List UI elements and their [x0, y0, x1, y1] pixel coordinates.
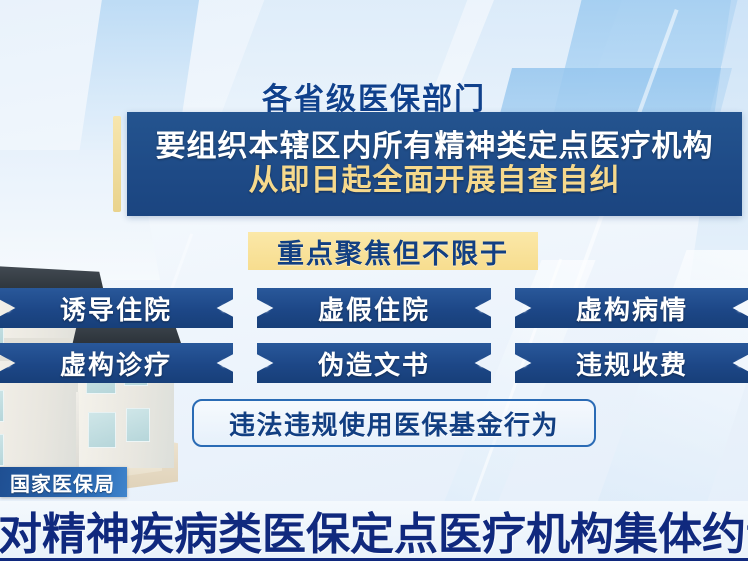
- chip-dot-right-icon: [479, 305, 486, 312]
- chip-dot-right-icon: [737, 305, 744, 312]
- violation-chip[interactable]: 虚构病情: [515, 288, 748, 328]
- violation-chip-label: 伪造文书: [318, 345, 430, 382]
- conclusion-label: 违法违规使用医保基金行为: [229, 405, 559, 442]
- headline-bar: 对精神疾病类医保定点医疗机构集体约谈: [0, 501, 748, 559]
- violation-chip-label: 虚构病情: [576, 290, 688, 327]
- directive-panel: 要组织本辖区内所有精神类定点医疗机构 从即日起全面开展自查自纠: [113, 112, 742, 216]
- violation-chip[interactable]: 虚构诊疗: [0, 343, 233, 383]
- building-window: [126, 408, 150, 442]
- source-badge: 国家医保局: [0, 467, 127, 497]
- lower-third: 国家医保局 对精神疾病类医保定点医疗机构集体约谈: [0, 459, 748, 561]
- focus-band-label: 重点聚焦但不限于: [277, 232, 509, 271]
- conclusion-box: 违法违规使用医保基金行为: [192, 399, 596, 447]
- chip-dot-left-icon: [520, 360, 527, 367]
- violation-chip[interactable]: 诱导住院: [0, 288, 233, 328]
- source-badge-label: 国家医保局: [10, 468, 115, 497]
- violation-chip[interactable]: 伪造文书: [257, 343, 491, 383]
- violation-chip-label: 虚假住院: [318, 290, 430, 327]
- chip-dot-right-icon: [737, 360, 744, 367]
- chip-dot-right-icon: [221, 360, 228, 367]
- panel-accent-bar: [113, 116, 121, 212]
- violation-chip[interactable]: 虚假住院: [257, 288, 491, 328]
- chip-dot-left-icon: [4, 305, 11, 312]
- chip-dot-left-icon: [4, 360, 11, 367]
- violation-chip-label: 虚构诊疗: [60, 345, 172, 382]
- violation-chip-label: 诱导住院: [60, 290, 172, 327]
- directive-panel-body: 要组织本辖区内所有精神类定点医疗机构 从即日起全面开展自查自纠: [127, 112, 742, 216]
- chip-dot-right-icon: [479, 360, 486, 367]
- chip-dot-left-icon: [262, 360, 269, 367]
- directive-line-2: 从即日起全面开展自查自纠: [249, 164, 621, 198]
- chip-dot-left-icon: [520, 305, 527, 312]
- broadcast-graphic-frame: 各省级医保部门 要组织本辖区内所有精神类定点医疗机构 从即日起全面开展自查自纠 …: [0, 0, 748, 561]
- building-window: [0, 390, 4, 422]
- violation-chip-label: 违规收费: [576, 345, 688, 382]
- violation-chip[interactable]: 违规收费: [515, 343, 748, 383]
- headline-text: 对精神疾病类医保定点医疗机构集体约谈: [0, 501, 748, 559]
- violation-chip-row-2: 虚构诊疗 伪造文书 违规收费: [0, 343, 748, 383]
- building-window: [88, 412, 116, 448]
- directive-line-1: 要组织本辖区内所有精神类定点医疗机构: [156, 130, 714, 164]
- focus-band: 重点聚焦但不限于: [248, 232, 538, 270]
- chip-dot-right-icon: [221, 305, 228, 312]
- violation-chip-row-1: 诱导住院 虚假住院 虚构病情: [0, 288, 748, 328]
- chip-dot-left-icon: [262, 305, 269, 312]
